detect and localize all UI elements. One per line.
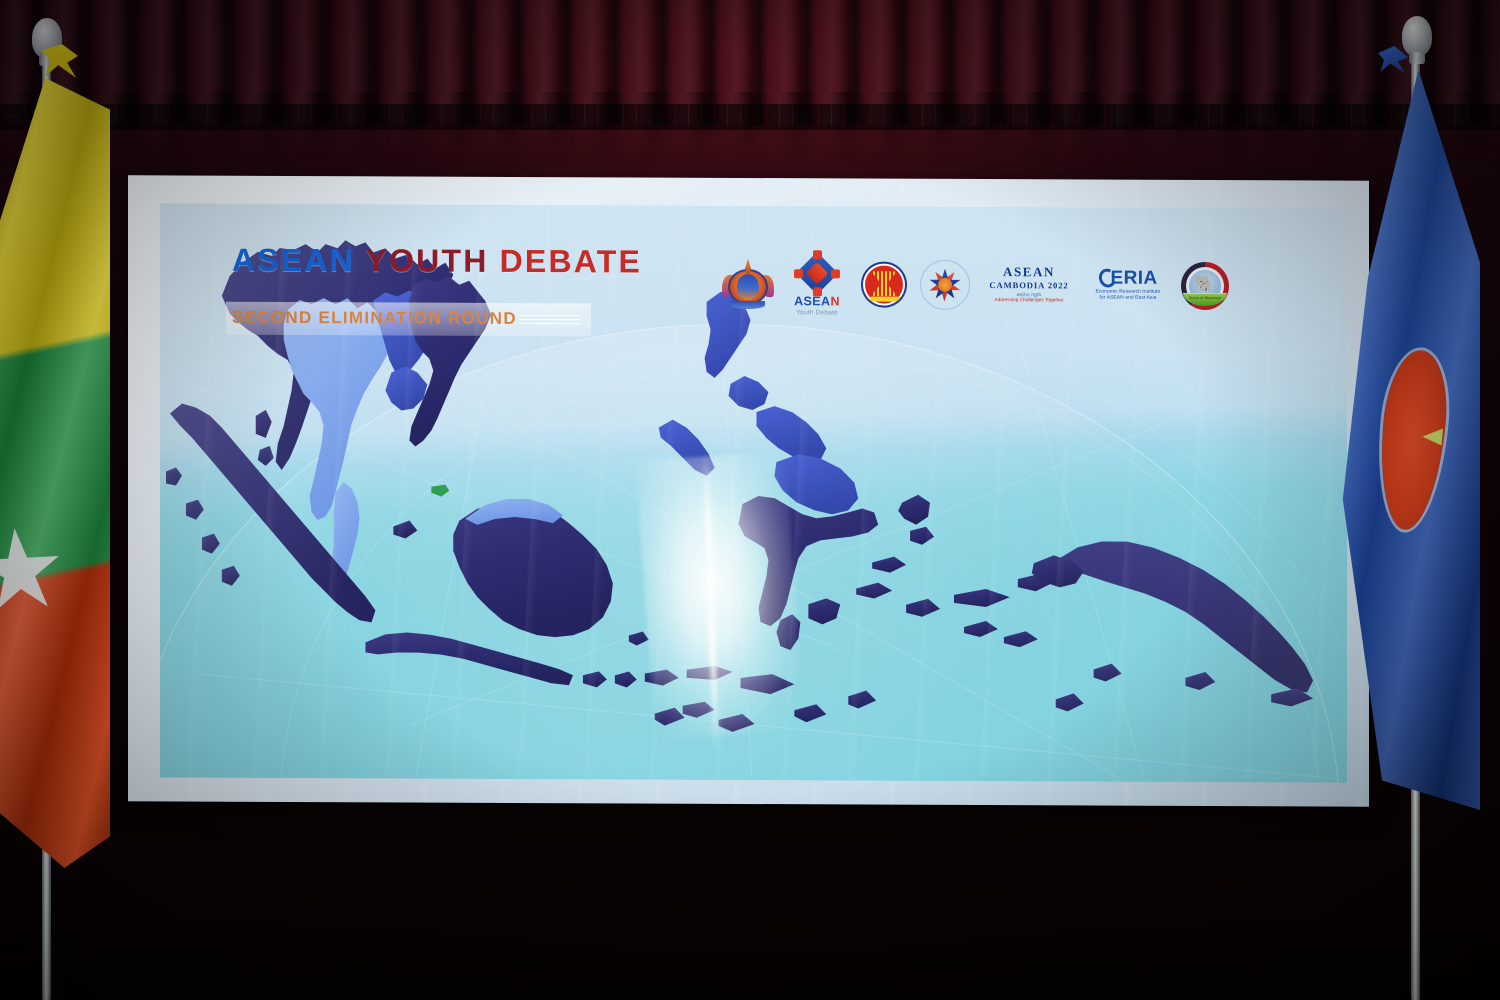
- island-small: [794, 704, 826, 722]
- landmass-java: [365, 632, 572, 685]
- event-banner: ASEAN YOUTH DEBATE SECOND ELIMINATION RO…: [128, 175, 1369, 806]
- island-seram: [954, 589, 1010, 607]
- island-small: [719, 714, 755, 732]
- logo-asean-cambodia-2022: ASEAN CAMBODIA 2022 អាស៊ាន កម្ពុជា Addre…: [983, 265, 1075, 305]
- title-word-youth: YOUTH: [366, 242, 489, 279]
- asean-youth-debate-wordmark: ASEAN: [794, 295, 840, 308]
- logo-asean-official-emblem: [861, 261, 907, 307]
- logo-asean-youth-debate: ASEAN Youth Debate: [786, 252, 848, 316]
- elephant-ribbon-text: Union of Myanmar: [1183, 293, 1227, 300]
- island-small: [202, 534, 220, 554]
- floor-shadow: [0, 790, 1500, 1000]
- ayd-n-text: N: [830, 294, 839, 308]
- eria-wordmark: ERIA: [1111, 268, 1158, 287]
- flagpole-finial-right: [1402, 16, 1432, 56]
- island-eastern: [856, 582, 892, 598]
- banner-printed-field: ASEAN YOUTH DEBATE SECOND ELIMINATION RO…: [160, 203, 1347, 782]
- elephant-emblem-icon: 🐘 Union of Myanmar: [1181, 262, 1229, 310]
- island-small: [222, 566, 240, 586]
- island-sumba: [683, 702, 715, 718]
- island-halmahera: [898, 495, 930, 525]
- curtain-hem: [0, 104, 1500, 130]
- elephant-glyph-icon: 🐘: [1194, 275, 1215, 292]
- island-timor: [741, 674, 795, 694]
- myanmar-ministry-emblem-icon: [723, 258, 773, 310]
- island-small: [848, 690, 876, 708]
- title-word-asean: ASEAN: [232, 242, 355, 279]
- island-eastern: [872, 557, 906, 573]
- island-small: [629, 631, 649, 645]
- island-tanimbar: [1185, 672, 1215, 690]
- cambodia-logo-line1: ASEAN: [1003, 265, 1055, 279]
- cambodia-logo-khmer: អាស៊ាន កម្ពុជា: [1017, 292, 1042, 298]
- landmass-philippines-mid: [729, 376, 769, 410]
- landmass-sulawesi-se: [808, 598, 840, 624]
- landmass-palawan: [659, 420, 715, 476]
- landmass-philippines-visayas: [756, 406, 826, 462]
- island-singapore: [431, 485, 449, 497]
- island-lombok: [615, 671, 637, 687]
- island-buru: [906, 599, 940, 617]
- island-sumbawa: [645, 670, 679, 686]
- eria-lockup: ERIA: [1099, 268, 1158, 287]
- logo-elephant-emblem: 🐘 Union of Myanmar: [1181, 262, 1229, 310]
- island-small: [655, 708, 685, 726]
- island-eastern: [964, 621, 998, 637]
- eria-subtitle-line2: for ASEAN and East Asia: [1100, 296, 1157, 303]
- island-flores: [687, 666, 733, 680]
- title-block: ASEAN YOUTH DEBATE: [232, 242, 642, 281]
- asean-emblem-icon: [861, 261, 907, 307]
- island-kai: [1056, 693, 1084, 711]
- island-eastern: [910, 527, 934, 545]
- ayd-asean-text: ASEA: [794, 294, 830, 308]
- myanmar-flag-star-icon: [0, 526, 66, 616]
- logo-star-emblem: [920, 259, 970, 309]
- island-small: [186, 500, 204, 520]
- logo-eria: ERIA Economic Research Institute for ASE…: [1088, 268, 1168, 303]
- subtitle-plate: SECOND ELIMINATION ROUND: [226, 302, 591, 337]
- island-aru: [1094, 664, 1122, 682]
- landmass-sulawesi-tail: [776, 614, 800, 650]
- island-bali: [583, 671, 607, 687]
- subtitle-text: SECOND ELIMINATION ROUND: [232, 308, 517, 329]
- island-small: [166, 467, 182, 485]
- myanmar-flag: [0, 78, 110, 868]
- asean-youth-debate-tagline: Youth Debate: [796, 309, 838, 316]
- cambodia-logo-line2: CAMBODIA 2022: [989, 280, 1068, 290]
- cambodia-logo-tagline: Addressing Challenges Together: [994, 299, 1063, 305]
- subtitle-rule-lines: [519, 312, 581, 326]
- sponsor-logo-row: ASEAN Youth Debate ASEAN CAMBODIA 20: [723, 252, 1229, 318]
- island-small: [393, 520, 417, 538]
- island-nicobar: [258, 446, 274, 466]
- island-andaman: [256, 410, 272, 438]
- title-word-debate: DEBATE: [500, 243, 642, 280]
- page-title: ASEAN YOUTH DEBATE: [232, 242, 642, 281]
- logo-myanmar-ministry-emblem: [723, 258, 773, 310]
- star-emblem-icon: [920, 259, 970, 309]
- island-eastern: [1004, 631, 1038, 647]
- asean-youth-debate-mark-icon: [796, 252, 838, 294]
